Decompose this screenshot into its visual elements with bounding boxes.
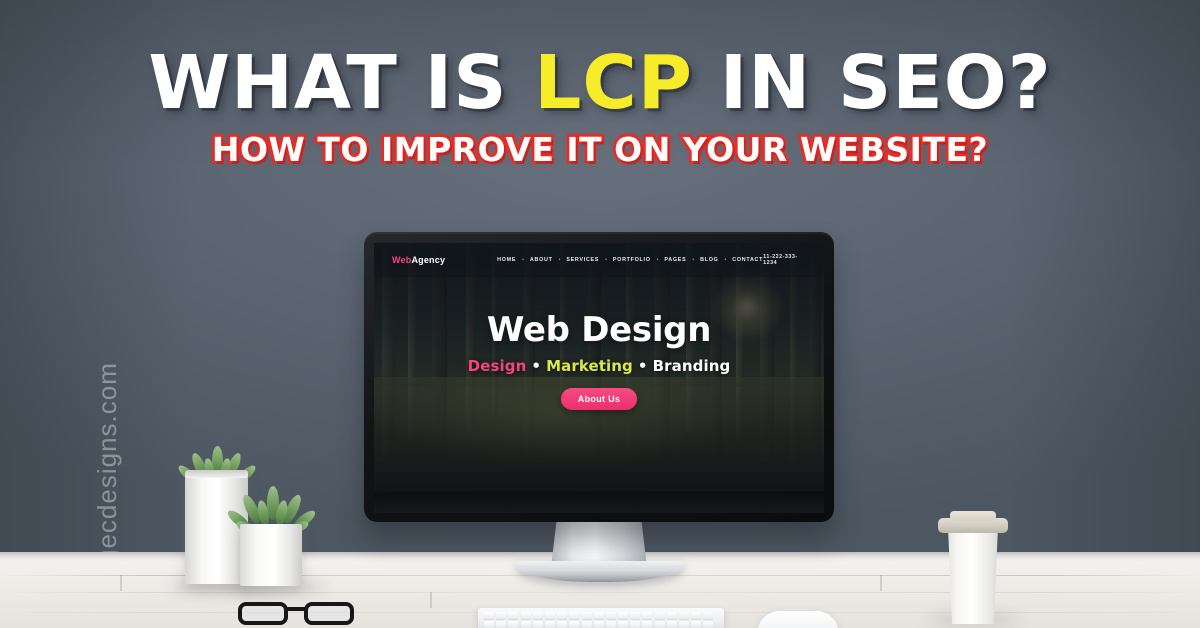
nav-separator-icon: •: [692, 257, 694, 263]
hero-title: Web Design: [374, 313, 824, 349]
page-subtitle: HOW TO IMPROVE IT ON YOUR WEBSITE?: [0, 133, 1200, 166]
nav-separator-icon: •: [605, 257, 607, 263]
keyboard-key[interactable]: [533, 621, 543, 628]
hero-tag-marketing: Marketing: [546, 357, 633, 375]
hero-tag-design: Design: [468, 357, 527, 375]
keyboard-key[interactable]: [545, 612, 555, 619]
keyboard-key[interactable]: [618, 621, 628, 628]
nav-item-portfolio[interactable]: PORTFOLIO: [613, 257, 651, 263]
nav-separator-icon: •: [559, 257, 561, 263]
about-us-button[interactable]: About Us: [561, 388, 637, 410]
keyboard-key[interactable]: [594, 621, 604, 628]
keyboard-key[interactable]: [582, 612, 592, 619]
nav-item-blog[interactable]: BLOG: [700, 257, 718, 263]
keyboard-key[interactable]: [679, 612, 689, 619]
keyboard-key[interactable]: [545, 621, 555, 628]
keyboard-key[interactable]: [655, 621, 665, 628]
keyboard[interactable]: [478, 608, 724, 628]
headline-part2: IN SEO?: [693, 40, 1052, 126]
coffee-cup-lid-top: [950, 511, 996, 521]
keyboard-key[interactable]: [642, 621, 652, 628]
planter-tall-rim: [185, 470, 248, 478]
poster-canvas: WHAT IS LCP IN SEO? HOW TO IMPROVE IT ON…: [0, 0, 1200, 628]
desk-plank-seam: [120, 575, 122, 591]
hero-tagline: Design•Marketing•Branding: [374, 357, 824, 375]
page-title: WHAT IS LCP IN SEO?: [0, 46, 1200, 120]
keyboard-key[interactable]: [691, 621, 701, 628]
website-nav-items: HOME • ABOUT • SERVICES • PORTFOLIO • PA…: [497, 257, 763, 263]
nav-separator-icon: •: [522, 257, 524, 263]
keyboard-key[interactable]: [582, 621, 592, 628]
desk-plank-seam: [880, 575, 882, 591]
keyboard-key[interactable]: [642, 612, 652, 619]
keyboard-key[interactable]: [557, 621, 567, 628]
planter-short: [240, 524, 302, 586]
keyboard-key[interactable]: [569, 612, 579, 619]
nav-separator-icon: •: [657, 257, 659, 263]
hero-tag-separator-icon: •: [638, 357, 648, 375]
desk-plank-line: [0, 592, 1200, 593]
nav-item-contact[interactable]: CONTACT: [732, 257, 763, 263]
logo-agency-text: Agency: [411, 255, 445, 265]
watermark-brand: gecdesigns.com: [92, 362, 123, 564]
website-navbar: WebAgency HOME • ABOUT • SERVICES • PORT…: [374, 243, 824, 277]
nav-item-services[interactable]: SERVICES: [566, 257, 599, 263]
keyboard-key[interactable]: [496, 612, 506, 619]
keyboard-key[interactable]: [594, 612, 604, 619]
mouse[interactable]: [757, 611, 839, 628]
keyboard-key[interactable]: [630, 621, 640, 628]
monitor: WebAgency HOME • ABOUT • SERVICES • PORT…: [364, 232, 834, 522]
keyboard-key[interactable]: [655, 612, 665, 619]
keyboard-key[interactable]: [703, 612, 713, 619]
keyboard-key[interactable]: [521, 612, 531, 619]
keyboard-key[interactable]: [508, 612, 518, 619]
monitor-stand-neck: [551, 519, 647, 567]
nav-item-about[interactable]: ABOUT: [530, 257, 553, 263]
keyboard-key[interactable]: [496, 621, 506, 628]
headline-accent-lcp: LCP: [534, 40, 693, 126]
keyboard-key[interactable]: [691, 612, 701, 619]
keyboard-key[interactable]: [557, 612, 567, 619]
website-logo[interactable]: WebAgency: [392, 255, 445, 265]
keyboard-key[interactable]: [618, 612, 628, 619]
monitor-screen[interactable]: WebAgency HOME • ABOUT • SERVICES • PORT…: [374, 243, 824, 491]
hero-tag-separator-icon: •: [531, 357, 541, 375]
desk-plank-seam: [430, 592, 432, 608]
eyeglasses: [238, 602, 358, 628]
coffee-cup: [944, 528, 1002, 624]
website-hero: Web Design Design•Marketing•Branding Abo…: [374, 313, 824, 410]
keyboard-key[interactable]: [521, 621, 531, 628]
nav-item-home[interactable]: HOME: [497, 257, 516, 263]
logo-web-text: Web: [392, 255, 411, 265]
keyboard-key[interactable]: [667, 621, 677, 628]
keyboard-key[interactable]: [484, 621, 494, 628]
monitor-chin: [374, 493, 824, 513]
keyboard-key[interactable]: [667, 612, 677, 619]
nav-item-pages[interactable]: PAGES: [664, 257, 686, 263]
nav-separator-icon: •: [725, 257, 727, 263]
eyeglasses-right-lens: [304, 602, 354, 625]
keyboard-key[interactable]: [606, 621, 616, 628]
nav-phone-number[interactable]: 11-222-333-1234: [763, 254, 806, 266]
headline-part1: WHAT IS: [148, 40, 534, 126]
eyeglasses-left-lens: [238, 602, 288, 625]
keyboard-key[interactable]: [484, 612, 494, 619]
keyboard-key[interactable]: [533, 612, 543, 619]
keyboard-key[interactable]: [630, 612, 640, 619]
hero-tag-branding: Branding: [653, 357, 731, 375]
keyboard-key[interactable]: [569, 621, 579, 628]
keyboard-key[interactable]: [703, 621, 713, 628]
keyboard-key[interactable]: [679, 621, 689, 628]
keyboard-key[interactable]: [508, 621, 518, 628]
keyboard-key[interactable]: [606, 612, 616, 619]
